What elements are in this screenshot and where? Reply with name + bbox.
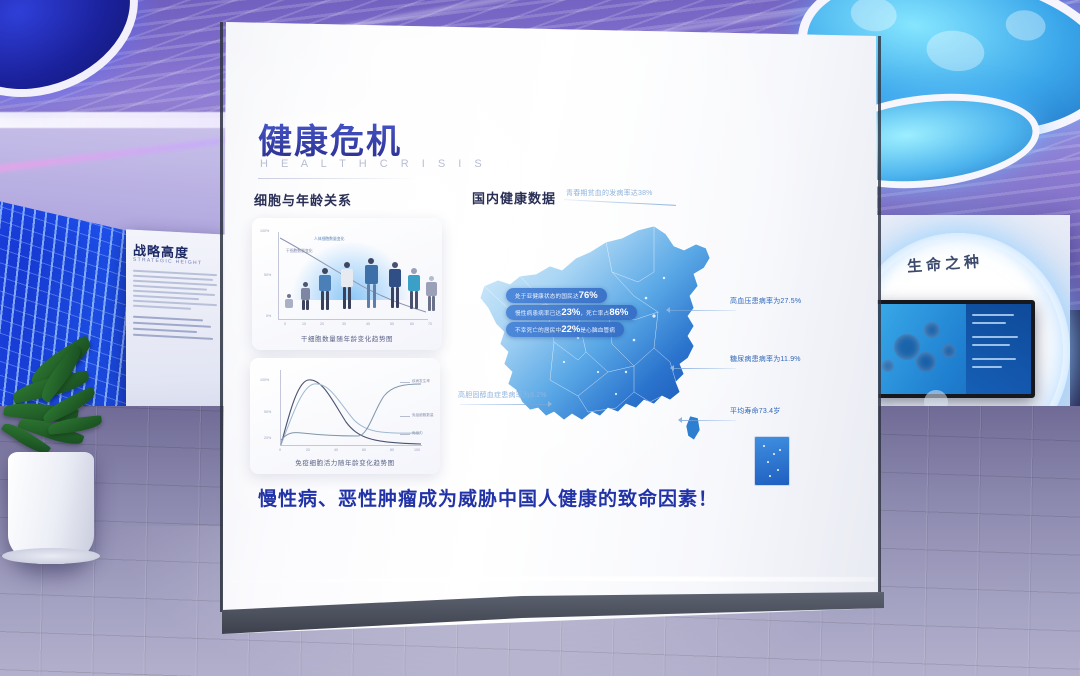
callout-life-expectancy: 平均寿命73.4岁 (730, 406, 780, 416)
chart2-xtick: 0 (279, 448, 281, 452)
chart1-ytick: 50% (264, 273, 271, 277)
stemcell-chart-card: 100% 50% 0% 人体细胞数量变化 干细胞数量变化 (252, 218, 442, 350)
chart1-xtick: 60 (410, 322, 414, 326)
callout-diabetes: 糖尿病患病率为11.9% (730, 354, 801, 364)
pill-text: 不幸死亡的居民中 (515, 328, 561, 334)
callout-hypertension: 高血压患病率为27.5% (730, 296, 801, 306)
page-subtitle: H E A L T H C R I S I S (260, 158, 487, 170)
stat-pill-chronic: 慢性病患病率已达23%，死亡率占86% (506, 305, 637, 320)
exhibition-hall-photo: 战略高度 STRATEGIC HEIGHT 生命之种 (0, 0, 1080, 676)
chart1-ytick: 100% (260, 229, 269, 233)
bottom-headline: 慢性病、恶性肿瘤成为威胁中国人健康的致命因素！ (258, 484, 718, 511)
callout-anemia: 青春期贫血的发病率达38% (566, 188, 653, 198)
chart2-xtick: 20 (306, 448, 310, 452)
chart2-legend-item: 免疫力 (412, 431, 423, 436)
callout-life-expectancy-arrow (678, 417, 682, 423)
plant-pot-base (2, 548, 100, 564)
pill-value: 23% (561, 307, 580, 318)
immunity-chart-card: 100% 50% 20% 疾病发生率 免疫细胞数量 免疫力 0 20 40 60… (250, 358, 440, 474)
title-underline (258, 178, 418, 179)
chart1-xtick: 70 (428, 322, 432, 326)
stemcell-chart-caption: 干细胞数量随年龄变化趋势图 (252, 333, 442, 343)
pill-text: 慢性病患病率已达 (515, 311, 561, 317)
chart2-ytick: 50% (264, 410, 271, 414)
chart2-ytick: 100% (260, 378, 269, 382)
chart2-xtick: 100 (414, 448, 420, 452)
strategic-height-subtitle: STRATEGIC HEIGHT (133, 257, 202, 267)
chart1-xtick: 30 (342, 322, 346, 326)
pill-value: 22% (561, 324, 580, 335)
wall-content: 健康危机 H E A L T H C R I S I S 细胞与年龄关系 国内健… (222, 22, 880, 634)
callout-cholesterol-leader (460, 404, 548, 405)
callout-diabetes-leader (674, 368, 736, 369)
chart2-legend-item: 疾病发生率 (412, 379, 430, 384)
chart2-xtick: 80 (390, 448, 394, 452)
callout-life-expectancy-leader (682, 420, 736, 421)
china-map (458, 212, 758, 482)
lamp-bubble (924, 27, 987, 75)
chart1-xtick: 0 (284, 322, 286, 326)
immunity-chart-caption: 免疫细胞活力随年龄变化趋势图 (250, 457, 440, 467)
chart2-xtick: 60 (362, 448, 366, 452)
chart1-ytick: 0% (266, 314, 271, 318)
chart1-xtick: 50 (390, 322, 394, 326)
chart1-xtick: 10 (302, 322, 306, 326)
section-header-cell-age: 细胞与年龄关系 (254, 190, 352, 209)
pill-value: 76% (579, 290, 598, 301)
callout-hypertension-arrow (666, 307, 670, 313)
south-sea-islands-inset (754, 436, 790, 486)
chart1-xtick: 20 (320, 322, 324, 326)
chart2-xtick: 40 (334, 448, 338, 452)
pill-text: ，死亡率占 (580, 311, 609, 317)
strategic-height-body-text (133, 270, 217, 344)
chart1-curve (278, 232, 428, 320)
stat-pill-subhealth: 处于亚健康状态的国民达76% (506, 288, 607, 303)
pill-value: 86% (609, 307, 628, 318)
chart2-ytick: 20% (264, 436, 271, 440)
chart1-xtick: 40 (366, 322, 370, 326)
stat-pill-cardiovascular: 不幸死亡的居民中22%是心脑血管病 (506, 322, 624, 337)
section-header-health-data: 国内健康数据 (472, 188, 556, 207)
page-title: 健康危机 (258, 114, 402, 163)
callout-hypertension-leader (670, 310, 736, 311)
pill-text: 处于亚健康状态的国民达 (515, 294, 579, 300)
callout-cholesterol: 高胆固醇血症患病率为8.2% (458, 390, 547, 400)
lamp-bubble (1004, 8, 1048, 43)
china-map-svg (458, 212, 758, 482)
callout-anemia-leader (564, 199, 676, 206)
chart2-legend-item: 免疫细胞数量 (412, 413, 434, 418)
pill-text: 是心脑血管病 (580, 328, 615, 334)
callout-diabetes-arrow (670, 365, 674, 371)
callout-cholesterol-arrow (548, 401, 552, 407)
